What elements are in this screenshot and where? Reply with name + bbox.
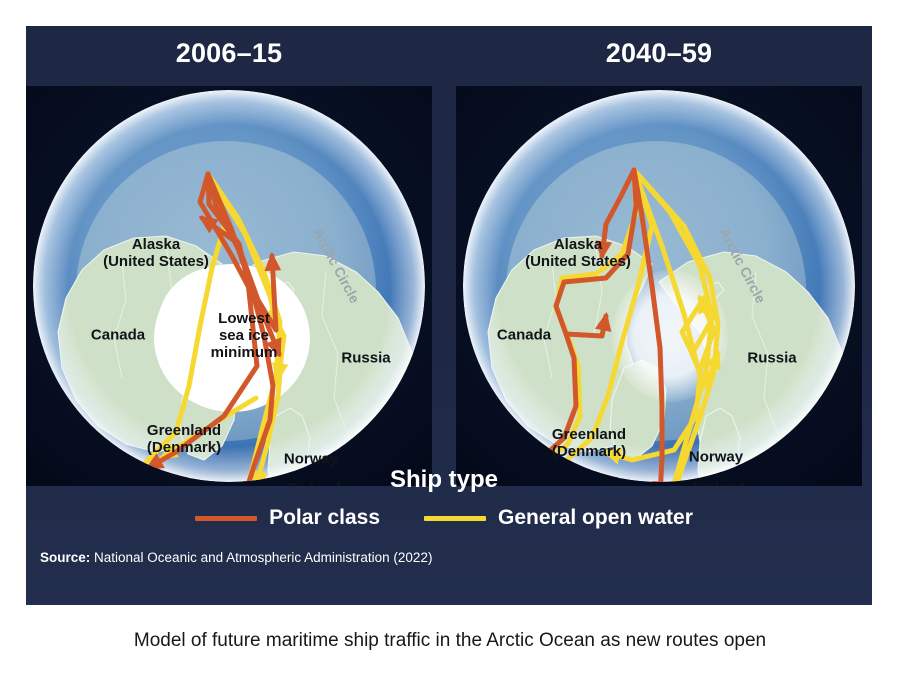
legend-item-polar-class[interactable]: Polar class [195, 506, 380, 530]
map-label-sea-ice-minimum: Lowestsea iceminimum [211, 311, 278, 361]
map-label-norway: Norway [689, 450, 743, 467]
map-label-alaska: Alaska(United States) [525, 237, 631, 271]
map-title-right: 2040–59 [456, 34, 862, 72]
map-label-russia: Russia [747, 351, 796, 368]
figure-caption: Model of future maritime ship traffic in… [0, 630, 900, 652]
legend-label-polar-class: Polar class [269, 506, 380, 530]
globe-svg [456, 86, 862, 486]
figure-panel: 2006–15 2040–59 Alaska(United States)Can… [26, 26, 872, 605]
map-label-alaska: Alaska(United States) [103, 237, 209, 271]
figure-root: 2006–15 2040–59 Alaska(United States)Can… [0, 0, 900, 680]
legend-swatch-general-open-water [424, 516, 486, 521]
globe-right: Alaska(United States)CanadaGreenland(Den… [456, 86, 862, 486]
source-line: Source: National Oceanic and Atmospheric… [40, 550, 840, 565]
legend-title: Ship type [26, 466, 862, 494]
map-label-greenland: Greenland(Denmark) [552, 427, 626, 461]
map-label-canada: Canada [91, 328, 145, 345]
map-label-greenland: Greenland(Denmark) [147, 423, 221, 457]
map-title-left: 2006–15 [26, 34, 432, 72]
source-text: National Oceanic and Atmospheric Adminis… [90, 550, 432, 565]
globe-left: Alaska(United States)CanadaLowestsea ice… [26, 86, 432, 486]
map-panel-2006-15[interactable]: Alaska(United States)CanadaLowestsea ice… [26, 86, 432, 486]
map-label-russia: Russia [341, 351, 390, 368]
map-label-canada: Canada [497, 328, 551, 345]
legend-label-general-open-water: General open water [498, 506, 693, 530]
legend-row: Polar class General open water [26, 504, 862, 532]
globe-svg [26, 86, 432, 486]
map-panel-2040-59[interactable]: Alaska(United States)CanadaGreenland(Den… [456, 86, 862, 486]
source-prefix: Source: [40, 550, 90, 565]
legend-swatch-polar-class [195, 516, 257, 521]
legend-item-general-open-water[interactable]: General open water [424, 506, 693, 530]
